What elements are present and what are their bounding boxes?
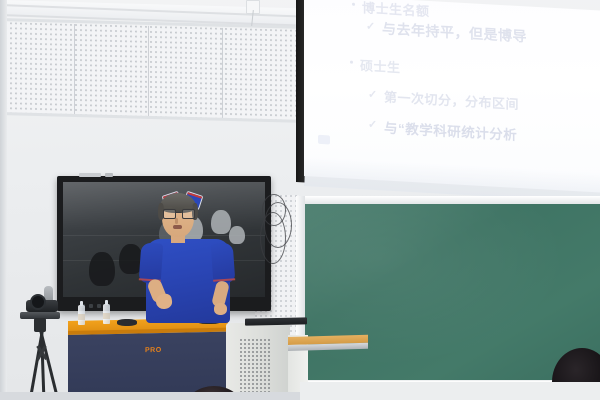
monitor-mount-clip: [105, 173, 113, 177]
cable-bundle: [262, 190, 302, 270]
presenter: [140, 193, 236, 328]
presenter-hand-right: [214, 303, 227, 315]
presenter-sleeve-right: [211, 242, 236, 283]
chalkboard-surface: [305, 204, 600, 386]
presenter-brow: [184, 206, 193, 208]
presenter-mouth: [173, 225, 182, 229]
keyboard[interactable]: [245, 317, 307, 325]
monitor-mount-clip: [79, 173, 101, 177]
cabinet-vents: [240, 339, 272, 395]
slide-line-3: 硕士生: [360, 55, 401, 76]
slide-line-1: 博士生名额: [362, 0, 430, 20]
acoustic-panel-band: [0, 22, 296, 122]
water-bottle: [103, 304, 110, 324]
presenter-nose: [175, 218, 178, 224]
presenter-sleeve-left: [139, 242, 164, 283]
desk-object: [117, 319, 137, 326]
photograph-lecture-scene: 博士生名额 ✓ 与去年持平，但是博导 硕士生 ✓ 第一次切分，分布区间 ✓ 与“…: [0, 0, 600, 400]
presenter-brow: [164, 206, 173, 208]
slide-check-icon: ✓: [368, 118, 377, 132]
floor-strip: [0, 392, 320, 400]
slide-line-2: 与去年持平，但是博导: [382, 18, 527, 46]
projection-screen: 博士生名额 ✓ 与去年持平，但是博导 硕士生 ✓ 第一次切分，分布区间 ✓ 与“…: [286, 0, 600, 192]
lectern: PRO: [60, 321, 310, 400]
slide-line-5: 与“教学科研统计分析: [384, 116, 517, 143]
slide-line-4: 第一次切分，分布区间: [384, 86, 519, 113]
wall-corner: [0, 0, 7, 400]
slide-check-icon: ✓: [366, 19, 375, 33]
glasses-icon: [163, 209, 193, 217]
camera-tripod: [8, 288, 86, 400]
slide-badge: [318, 135, 330, 145]
wall-base: [300, 382, 600, 400]
slide-check-icon: ✓: [368, 88, 377, 102]
camera-lens-icon: [30, 294, 46, 310]
chalkboard-frame-top: [296, 196, 600, 204]
lectern-logo: PRO: [145, 347, 162, 354]
